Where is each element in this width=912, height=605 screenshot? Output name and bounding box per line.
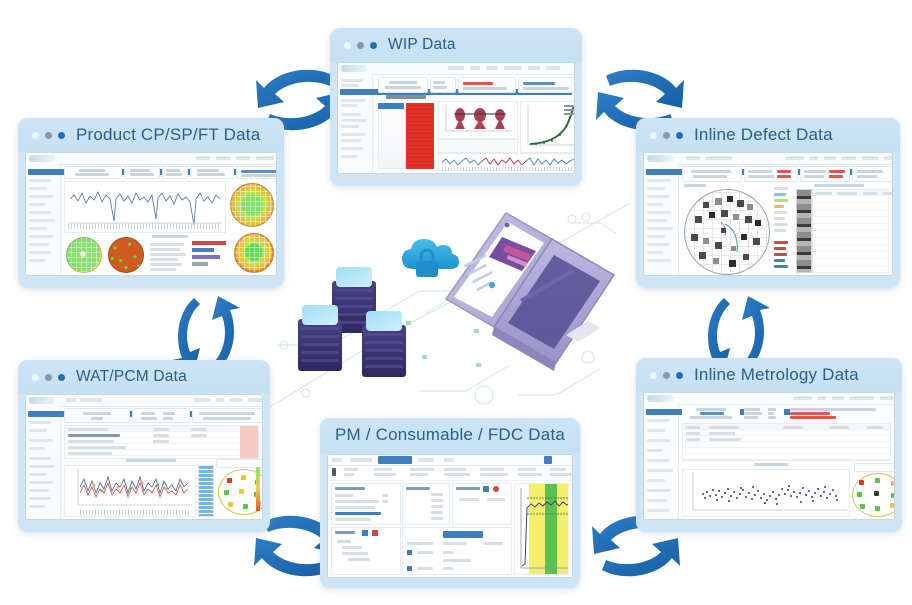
window-dots-wat [32,374,65,381]
panel-screenshot-wip [337,62,575,174]
panel-header-product: Product CP/SP/FT Data [18,118,284,152]
window-dot-light-icon [32,374,39,381]
panel-header-fdc: PM / Consumable / FDC Data [320,418,580,454]
window-dots-product [32,132,65,139]
window-dots-defect [650,132,683,139]
window-dot-light-icon [32,132,39,139]
fdc-trace-chart [514,483,569,575]
laptop [446,195,614,371]
panel-header-wat: WAT/PCM Data [18,360,270,394]
panel-title-wip: WIP Data [388,36,456,54]
network-nodes [406,321,481,367]
data-platform-illustration [270,195,630,425]
panel-screenshot-wat [25,394,263,520]
server-stack [298,267,406,377]
window-dot-blue-icon [676,132,683,139]
panel-wip-data[interactable]: WIP Data [330,28,582,186]
window-dot-light-icon [344,42,351,49]
diagram-canvas: WIP Data [0,0,912,605]
panel-title-metrology: Inline Metrology Data [694,365,859,385]
panel-screenshot-product [25,152,277,276]
panel-screenshot-metrology [643,392,895,520]
panel-screenshot-fdc [327,454,573,578]
window-dot-gray-icon [663,132,670,139]
wip-section-title [386,95,426,99]
window-dot-gray-icon [45,132,52,139]
window-dot-light-icon [650,372,657,379]
panel-inline-metrology-data[interactable]: Inline Metrology Data [636,358,902,532]
panel-title-defect: Inline Defect Data [694,125,833,145]
panel-product-cp-sp-ft-data[interactable]: Product CP/SP/FT Data [18,118,284,288]
panel-header-metrology: Inline Metrology Data [636,358,902,392]
panel-header-defect: Inline Defect Data [636,118,900,152]
defect-wafer-map [684,189,770,275]
panel-header-wip: WIP Data [330,28,582,62]
panel-title-fdc: PM / Consumable / FDC Data [335,425,565,445]
panel-inline-defect-data[interactable]: Inline Defect Data [636,118,900,288]
cloud-lock-icon [402,239,459,277]
window-dot-gray-icon [45,374,52,381]
panel-pm-consumable-fdc-data[interactable]: PM / Consumable / FDC Data [320,418,580,588]
window-dots-wip [344,42,377,49]
panel-title-wat: WAT/PCM Data [76,368,187,386]
panel-screenshot-defect [643,152,893,276]
window-dot-gray-icon [357,42,364,49]
metrology-site-map [852,473,895,517]
window-dots-metrology [650,372,683,379]
window-dot-gray-icon [663,372,670,379]
window-dot-blue-icon [370,42,377,49]
panel-title-product: Product CP/SP/FT Data [76,125,260,145]
window-dot-blue-icon [58,374,65,381]
panel-wat-pcm-data[interactable]: WAT/PCM Data [18,360,270,532]
window-dot-blue-icon [676,372,683,379]
window-dot-blue-icon [58,132,65,139]
metrology-scatter-plot [682,469,850,517]
window-dot-light-icon [650,132,657,139]
